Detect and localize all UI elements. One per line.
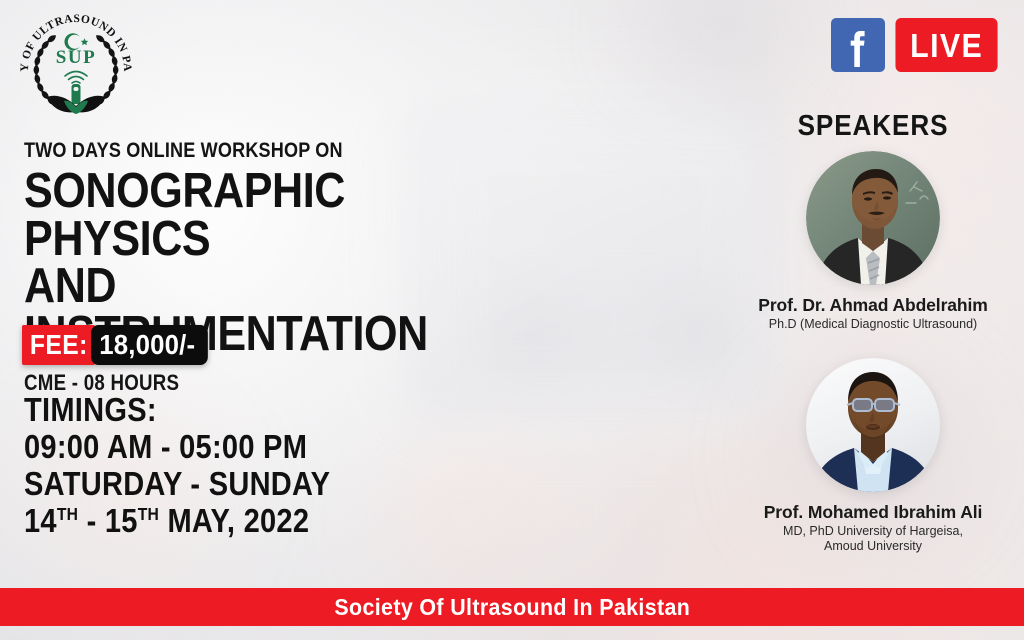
date-start-day: 14 — [24, 502, 57, 539]
date-start-ordinal: TH — [57, 504, 78, 524]
date-end-ordinal: TH — [138, 504, 159, 524]
fee-label: FEE: — [22, 325, 95, 365]
speakers-section: SPEAKERS — [722, 112, 1024, 554]
footer-banner-text: Society Of Ultrasound In Pakistan — [334, 596, 690, 619]
facebook-f-icon[interactable] — [831, 18, 885, 72]
fee-badge: FEE: 18,000/- — [22, 325, 218, 365]
speaker-credentials: MD, PhD University of Hargeisa, Amoud Un… — [722, 524, 1024, 554]
sup-logo: SOCIETY OF ULTRASOUND IN PAKISTAN — [14, 8, 138, 118]
speaker-credentials-line1: MD, PhD University of Hargeisa, — [783, 524, 963, 538]
speaker-credentials-line2: Amoud University — [722, 539, 1024, 554]
speakers-heading: SPEAKERS — [737, 112, 1009, 141]
timings-days: SATURDAY - SUNDAY — [24, 466, 330, 503]
speaker-photo-mohamed-ibrahim-ali — [806, 358, 940, 492]
speaker-name: Prof. Dr. Ahmad Abdelrahim — [722, 295, 1024, 315]
timings-block: TIMINGS: 09:00 AM - 05:00 PM SATURDAY - … — [24, 392, 330, 540]
fee-amount: 18,000/- — [91, 325, 208, 365]
speaker-credentials: Ph.D (Medical Diagnostic Ultrasound) — [722, 317, 1024, 332]
speaker-credentials-line1: Ph.D (Medical Diagnostic Ultrasound) — [769, 317, 977, 331]
svg-text:SUP: SUP — [56, 47, 96, 68]
date-month-year: MAY, 2022 — [159, 502, 309, 539]
timings-hours: 09:00 AM - 05:00 PM — [24, 429, 330, 466]
speaker-name: Prof. Mohamed Ibrahim Ali — [722, 502, 1024, 522]
poster-canvas: SOCIETY OF ULTRASOUND IN PAKISTAN — [0, 0, 1024, 640]
footer-banner: Society Of Ultrasound In Pakistan — [0, 588, 1024, 626]
speaker-photo-ahmad-abdelrahim — [806, 151, 940, 285]
date-separator: - 15 — [78, 502, 137, 539]
facebook-live-badge[interactable]: LIVE — [831, 18, 1002, 72]
live-label[interactable]: LIVE — [895, 18, 997, 72]
speaker-card-2: Prof. Mohamed Ibrahim Ali MD, PhD Univer… — [722, 358, 1024, 554]
timings-date: 14TH - 15TH MAY, 2022 — [24, 503, 330, 540]
timings-heading: TIMINGS: — [24, 392, 330, 429]
headline-title-line1: SONOGRAPHIC PHYSICS — [24, 164, 345, 266]
headline-kicker: TWO DAYS ONLINE WORKSHOP ON — [24, 140, 428, 161]
speaker-card-1: Prof. Dr. Ahmad Abdelrahim Ph.D (Medical… — [722, 151, 1024, 332]
